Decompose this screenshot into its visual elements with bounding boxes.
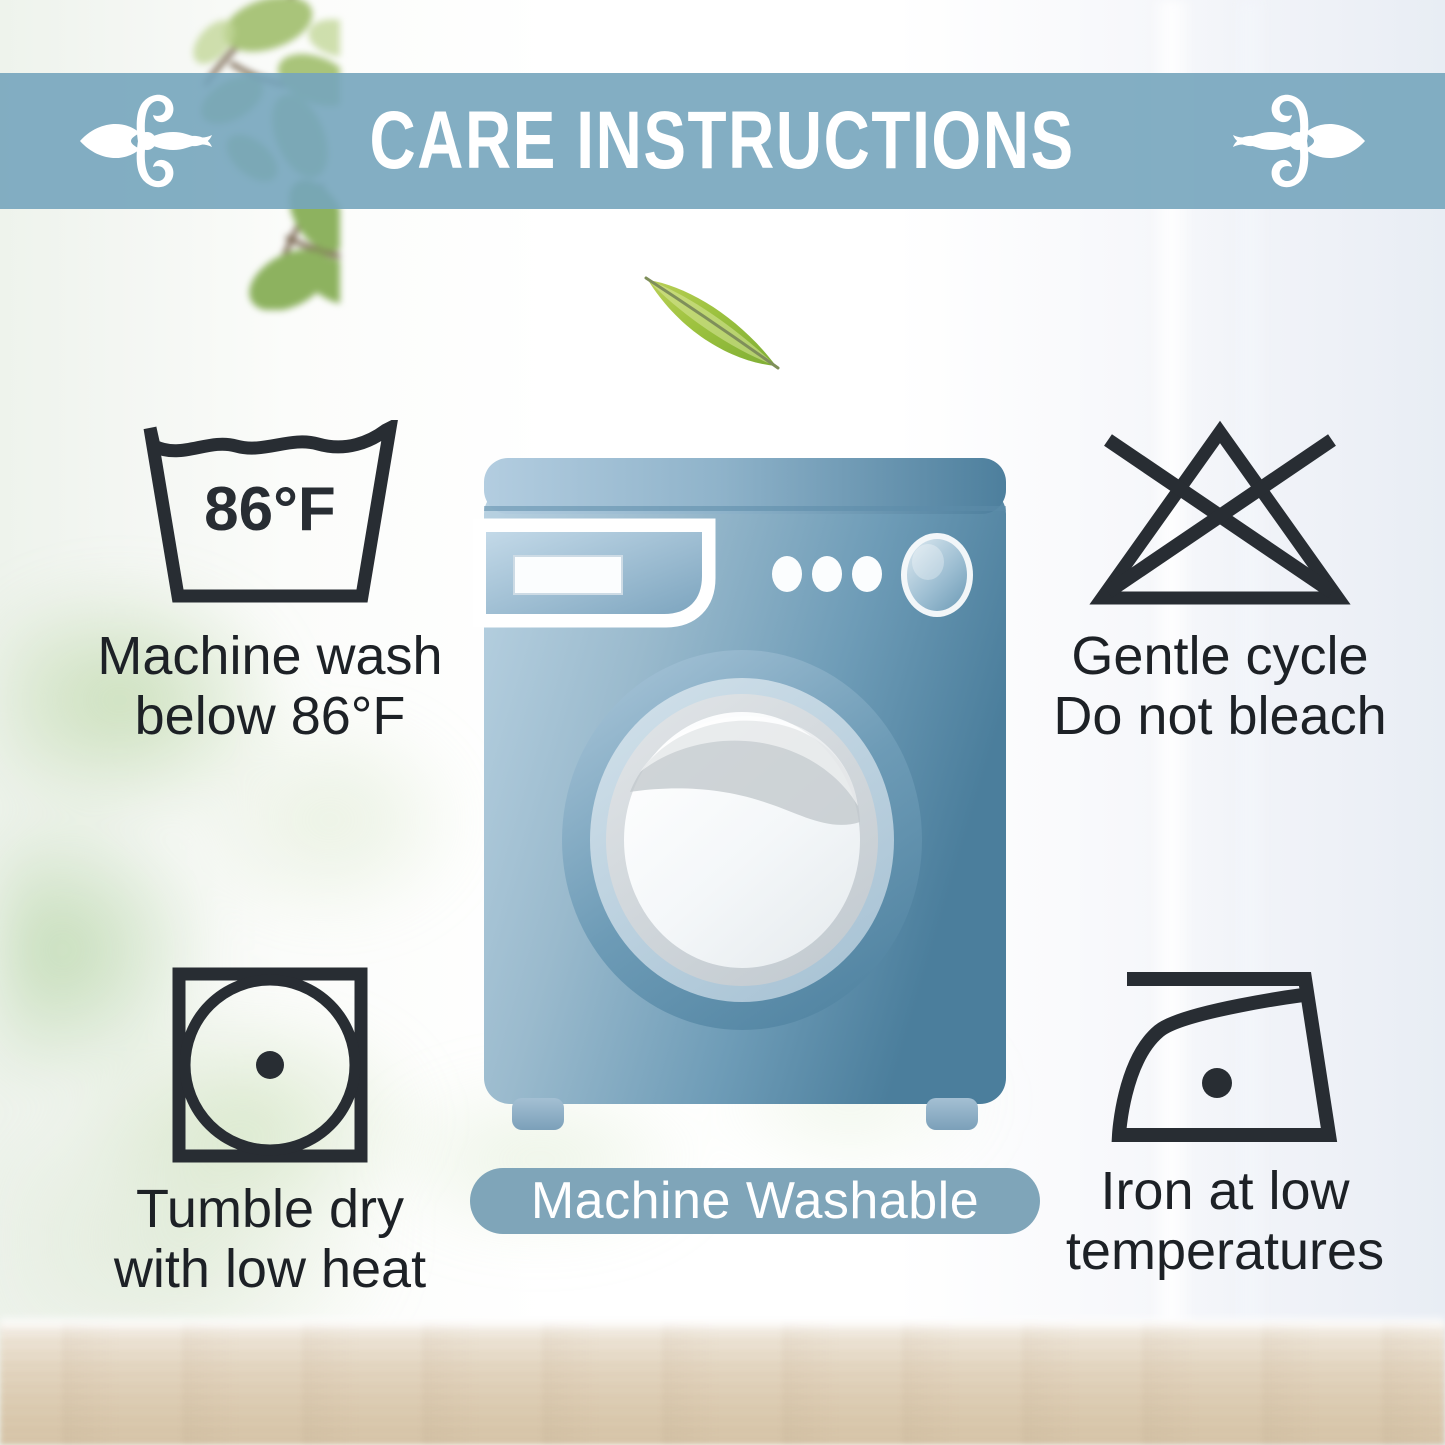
washer-top-lid xyxy=(484,458,1006,514)
washer-indicator-lights xyxy=(772,556,882,592)
care-caption-iron: Iron at low temperatures xyxy=(1010,1161,1440,1282)
care-caption-tumble-dry: Tumble dry with low heat xyxy=(50,1179,490,1300)
washer-detergent-drawer xyxy=(480,526,708,620)
washer-foot-left xyxy=(512,1098,564,1130)
tumble-dry-low-icon xyxy=(170,965,370,1165)
fleur-de-lis-icon-left xyxy=(76,89,226,193)
washer-drawer-slot xyxy=(514,556,622,594)
care-instructions-infographic: CARE INSTRUCTIONS xyxy=(0,0,1445,1445)
iron-low-heat-icon xyxy=(1105,965,1345,1147)
background-wood-edge-highlight xyxy=(0,1318,1445,1334)
washer-control-knob[interactable] xyxy=(901,533,973,617)
header-banner: CARE INSTRUCTIONS xyxy=(0,73,1445,209)
washing-machine-illustration xyxy=(470,440,1020,1130)
wash-temperature-label: 86°F xyxy=(204,475,336,544)
machine-washable-badge-label: Machine Washable xyxy=(531,1175,979,1227)
care-symbol-machine-wash: 86°F Machine wash below 86°F xyxy=(40,420,500,747)
machine-washable-badge: Machine Washable xyxy=(470,1168,1040,1234)
care-symbol-do-not-bleach: Gentle cycle Do not bleach xyxy=(1000,420,1440,747)
care-symbol-tumble-dry: Tumble dry with low heat xyxy=(50,965,490,1300)
do-not-bleach-triangle-icon xyxy=(1086,420,1354,612)
care-caption-machine-wash: Machine wash below 86°F xyxy=(40,626,500,747)
care-caption-do-not-bleach: Gentle cycle Do not bleach xyxy=(1000,626,1440,747)
fleur-de-lis-icon-right xyxy=(1219,89,1369,193)
background-wood-grain xyxy=(0,1322,1445,1445)
washer-foot-right xyxy=(926,1098,978,1130)
page-title: CARE INSTRUCTIONS xyxy=(370,100,1075,182)
washer-door[interactable] xyxy=(562,650,922,1030)
green-leaf-icon xyxy=(636,266,786,376)
care-symbol-iron: Iron at low temperatures xyxy=(1010,965,1440,1282)
wash-tub-icon: 86°F xyxy=(140,420,400,612)
